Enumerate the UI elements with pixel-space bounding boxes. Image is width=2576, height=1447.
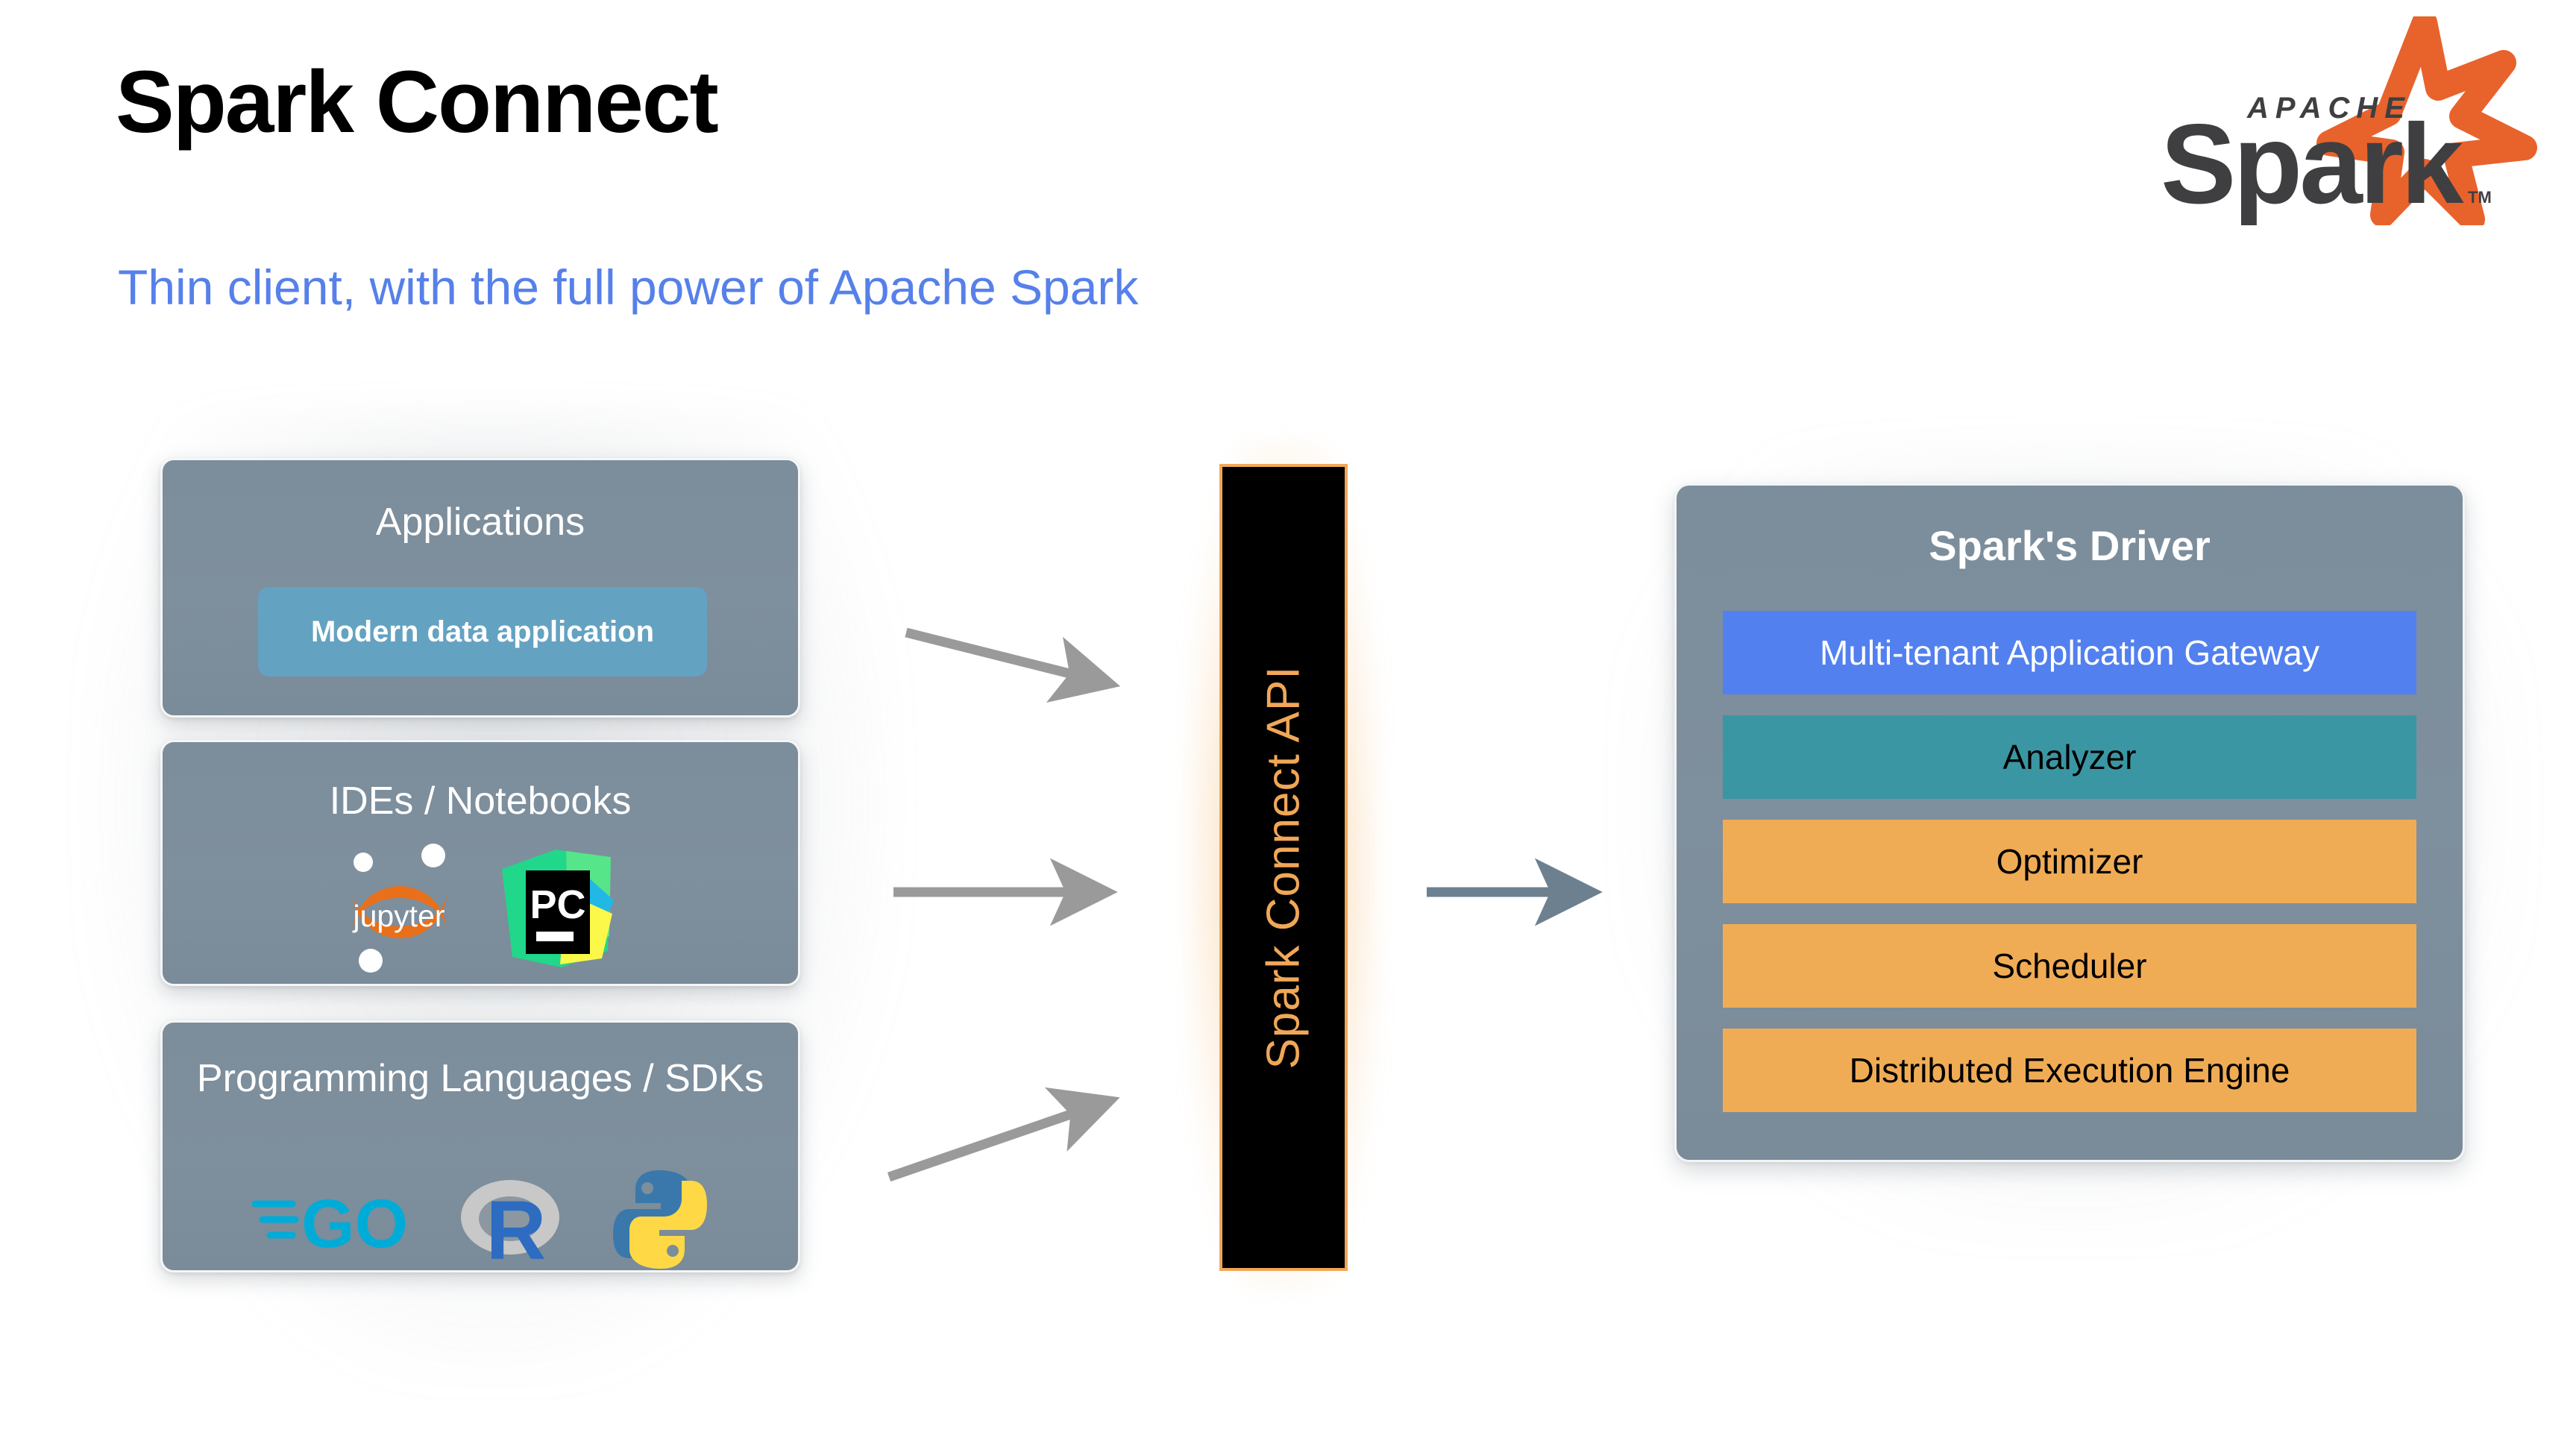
- arrow-applications-to-api: [906, 633, 1105, 682]
- connector-arrows: [0, 0, 2576, 1447]
- arrow-languages-to-api: [889, 1102, 1105, 1177]
- slide-canvas: Spark Connect Thin client, with the full…: [0, 0, 2576, 1447]
